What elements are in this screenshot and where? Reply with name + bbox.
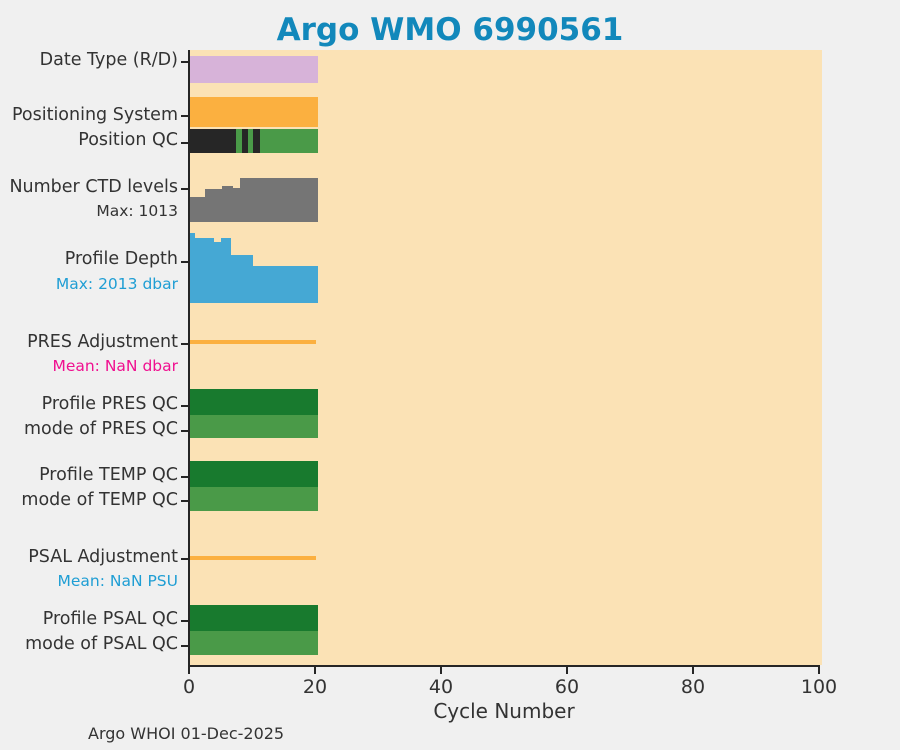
row-sublabel-ctd-max: Max: 1013 [96,203,178,219]
bar-profile-pres-qc [190,389,318,415]
y-tick [181,476,189,478]
bar-position-qc [190,129,318,153]
x-tick-label: 60 [555,676,579,698]
x-axis-line [188,665,820,667]
row-sublabel-pres-mean: Mean: NaN dbar [52,358,178,374]
y-tick [181,620,189,622]
row-label-number-ctd-levels: Number CTD levels [9,178,178,196]
y-tick [181,61,189,63]
chart-title: Argo WMO 6990561 [0,12,900,48]
bar-mode-of-pres-qc [190,415,318,438]
position-qc-segment-good [260,129,318,153]
row-label-position-qc: Position QC [78,131,178,149]
argo-profile-summary-chart: Argo WMO 6990561 [0,0,900,750]
plot-area [188,50,822,665]
depth-step [221,238,231,303]
ctd-step [190,197,205,222]
x-tick-label: 0 [183,676,195,698]
row-sublabel-psal-mean: Mean: NaN PSU [57,573,178,589]
x-tick [692,665,694,674]
y-tick [181,188,189,190]
row-label-date-type: Date Type (R/D) [40,51,178,69]
ctd-step [240,178,318,222]
depth-step [214,242,221,303]
line-psal-adjustment [190,556,316,560]
bar-positioning-system [190,97,318,127]
row-label-profile-temp-qc: Profile TEMP QC [39,466,178,484]
bar-mode-of-temp-qc [190,487,318,511]
ctd-step [222,186,233,222]
y-tick [181,430,189,432]
x-tick-label: 40 [429,676,453,698]
row-label-profile-psal-qc: Profile PSAL QC [43,610,178,628]
bar-date-type [190,56,318,83]
bar-profile-temp-qc [190,461,318,487]
bar-number-ctd-levels [190,175,318,222]
position-qc-segment-bad [190,129,236,153]
row-label-pres-adjustment: PRES Adjustment [27,333,178,351]
row-label-positioning-system: Positioning System [12,106,178,124]
y-tick [181,142,189,144]
row-label-mode-of-pres-qc: mode of PRES QC [24,420,178,438]
x-tick-label: 80 [681,676,705,698]
bar-profile-depth [190,233,318,303]
row-label-profile-depth: Profile Depth [65,250,178,268]
row-label-mode-of-psal-qc: mode of PSAL QC [25,635,178,653]
y-tick [181,500,189,502]
row-sublabel-depth-max: Max: 2013 dbar [56,276,178,292]
position-qc-segment-bad [253,129,260,153]
bar-mode-of-psal-qc [190,631,318,655]
y-tick [181,343,189,345]
x-tick [188,665,190,674]
footer-credit: Argo WHOI 01-Dec-2025 [88,724,284,743]
x-tick [818,665,820,674]
x-tick-label: 20 [303,676,327,698]
row-label-mode-of-temp-qc: mode of TEMP QC [21,491,178,509]
x-tick-label: 100 [801,676,837,698]
row-label-profile-pres-qc: Profile PRES QC [42,395,178,413]
depth-step [253,266,318,303]
x-tick [566,665,568,674]
line-pres-adjustment [190,340,316,344]
y-tick [181,645,189,647]
depth-step [231,255,253,303]
y-tick [181,558,189,560]
ctd-step [233,188,240,222]
y-tick [181,115,189,117]
x-tick [314,665,316,674]
y-tick [181,405,189,407]
y-tick [181,261,189,263]
x-axis-label: Cycle Number [188,699,820,723]
x-tick [440,665,442,674]
depth-step [195,238,214,303]
ctd-step [205,189,222,222]
bar-profile-psal-qc [190,605,318,631]
row-label-psal-adjustment: PSAL Adjustment [28,548,178,566]
